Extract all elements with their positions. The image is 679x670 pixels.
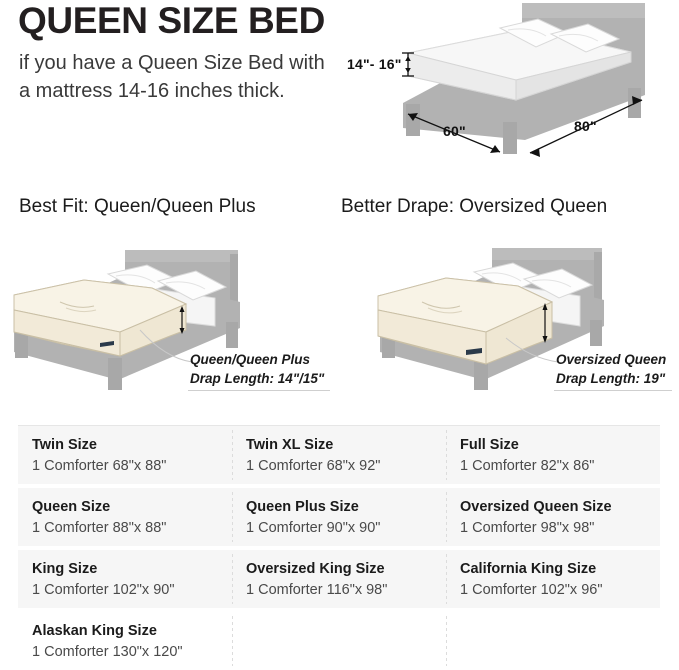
table-cell-empty xyxy=(232,612,446,670)
width-dimension-label: 60" xyxy=(443,123,466,139)
best-fit-drape-label-line1: Queen/Queen Plus xyxy=(190,350,324,369)
table-cell: Alaskan King Size 1 Comforter 130"x 120" xyxy=(18,612,232,670)
table-cell: Full Size 1 Comforter 82"x 86" xyxy=(446,426,660,484)
best-fit-drape-label-line2: Drap Length: 14"/15" xyxy=(190,369,324,388)
size-name: King Size xyxy=(32,559,232,580)
size-name: Queen Plus Size xyxy=(246,497,446,518)
table-row: Twin Size 1 Comforter 68"x 88" Twin XL S… xyxy=(18,426,660,484)
size-name: Twin Size xyxy=(32,435,232,456)
size-name: Alaskan King Size xyxy=(32,621,232,642)
size-name: Oversized King Size xyxy=(246,559,446,580)
table-cell: Oversized Queen Size 1 Comforter 98"x 98… xyxy=(446,488,660,546)
queen-bed-diagram xyxy=(340,0,679,180)
table-row: King Size 1 Comforter 102"x 90" Oversize… xyxy=(18,550,660,608)
size-desc: 1 Comforter 116"x 98" xyxy=(246,580,446,601)
better-drape-bed-svg xyxy=(340,240,679,420)
better-drape-label-line1: Oversized Queen xyxy=(556,350,666,369)
table-cell: California King Size 1 Comforter 102"x 9… xyxy=(446,550,660,608)
bed-illustration-svg xyxy=(340,0,679,180)
better-drape-label-line2: Drap Length: 19" xyxy=(556,369,666,388)
size-desc: 1 Comforter 102"x 96" xyxy=(460,580,660,601)
size-name: California King Size xyxy=(460,559,660,580)
page-title: QUEEN SIZE BED xyxy=(18,2,325,41)
size-desc: 1 Comforter 88"x 88" xyxy=(32,518,232,539)
size-desc: 1 Comforter 102"x 90" xyxy=(32,580,232,601)
table-cell: King Size 1 Comforter 102"x 90" xyxy=(18,550,232,608)
size-desc: 1 Comforter 68"x 88" xyxy=(32,456,232,477)
table-row: Alaskan King Size 1 Comforter 130"x 120" xyxy=(18,612,660,670)
table-cell: Queen Size 1 Comforter 88"x 88" xyxy=(18,488,232,546)
size-desc: 1 Comforter 68"x 92" xyxy=(246,456,446,477)
table-cell: Oversized King Size 1 Comforter 116"x 98… xyxy=(232,550,446,608)
size-name: Oversized Queen Size xyxy=(460,497,660,518)
size-desc: 1 Comforter 130"x 120" xyxy=(32,642,232,663)
size-guide-page: QUEEN SIZE BED if you have a Queen Size … xyxy=(0,0,679,665)
best-fit-bed-diagram xyxy=(0,240,340,420)
table-cell: Twin Size 1 Comforter 68"x 88" xyxy=(18,426,232,484)
size-name: Queen Size xyxy=(32,497,232,518)
size-desc: 1 Comforter 90"x 90" xyxy=(246,518,446,539)
best-fit-drape-label: Queen/Queen Plus Drap Length: 14"/15" xyxy=(190,350,324,388)
section-heading-best-fit: Best Fit: Queen/Queen Plus xyxy=(19,196,256,218)
table-row: Queen Size 1 Comforter 88"x 88" Queen Pl… xyxy=(18,488,660,546)
page-subtitle: if you have a Queen Size Bed with a matt… xyxy=(19,50,329,105)
size-name: Full Size xyxy=(460,435,660,456)
table-cell: Queen Plus Size 1 Comforter 90"x 90" xyxy=(232,488,446,546)
table-cell-empty xyxy=(446,612,660,670)
size-desc: 1 Comforter 82"x 86" xyxy=(460,456,660,477)
better-drape-bed-diagram xyxy=(340,240,679,420)
best-fit-bed-svg xyxy=(0,240,340,420)
thickness-dimension-label: 14"- 16" xyxy=(347,56,402,72)
length-dimension-label: 80" xyxy=(574,118,597,134)
better-drape-drape-label: Oversized Queen Drap Length: 19" xyxy=(556,350,666,388)
size-desc: 1 Comforter 98"x 98" xyxy=(460,518,660,539)
section-heading-better-drape: Better Drape: Oversized Queen xyxy=(341,196,607,218)
comforter-size-table: Twin Size 1 Comforter 68"x 88" Twin XL S… xyxy=(18,425,660,670)
size-name: Twin XL Size xyxy=(246,435,446,456)
table-cell: Twin XL Size 1 Comforter 68"x 92" xyxy=(232,426,446,484)
